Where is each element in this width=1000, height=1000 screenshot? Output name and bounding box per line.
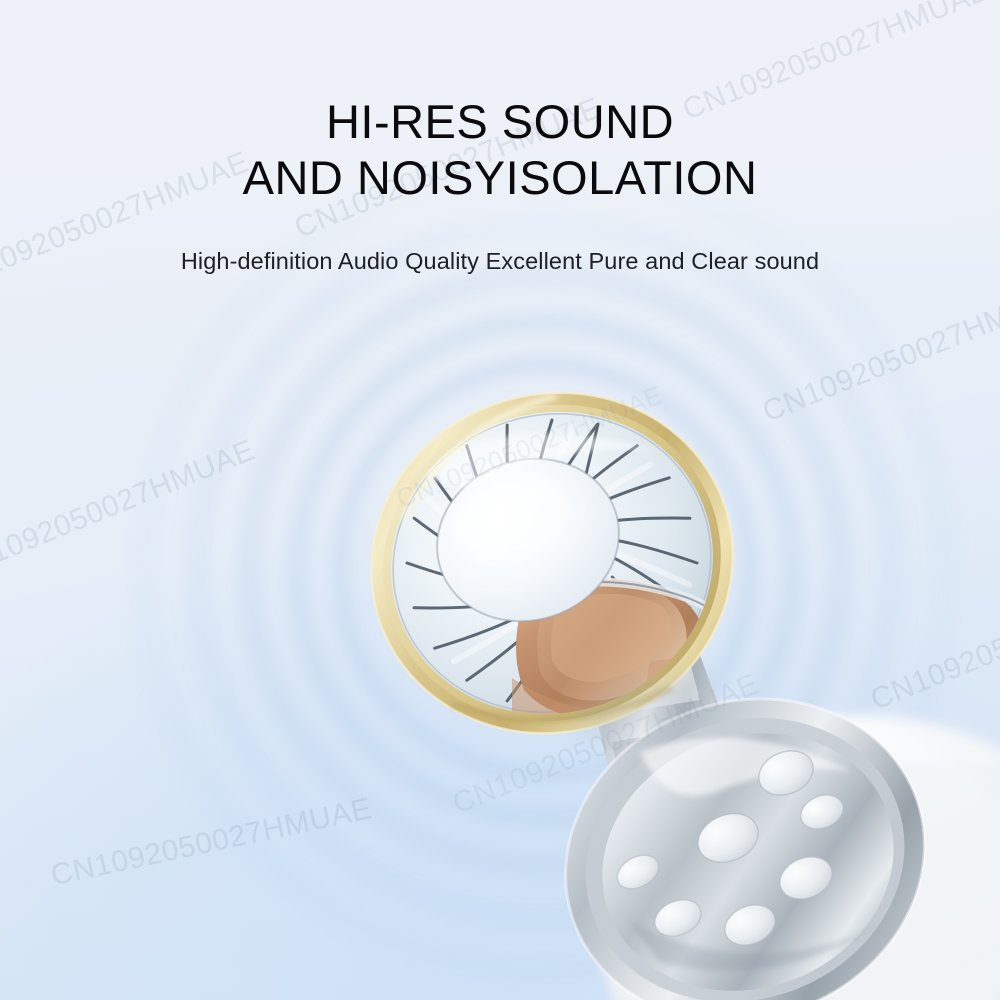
product-banner: CN1092050027HMUAE CN1092050027HMUAE CN10…	[0, 0, 1000, 1000]
headline-line-2: AND NOISYISOLATION	[0, 150, 1000, 205]
headline-line-1: HI-RES SOUND	[0, 94, 1000, 149]
subheadline: High-definition Audio Quality Excellent …	[0, 248, 1000, 275]
watermark-text: CN1092050027HMUAE	[0, 433, 260, 587]
watermark-text: CN1092050027HMUAE	[392, 379, 667, 514]
watermark-text: CN1092050027HMUAE	[866, 563, 1000, 717]
watermark-text: CN1092050027HMUAE	[448, 667, 764, 821]
watermark-text: CN1092050027HMUAE	[758, 275, 1000, 429]
watermark-text: CN1092050027HMUAE	[48, 792, 375, 893]
